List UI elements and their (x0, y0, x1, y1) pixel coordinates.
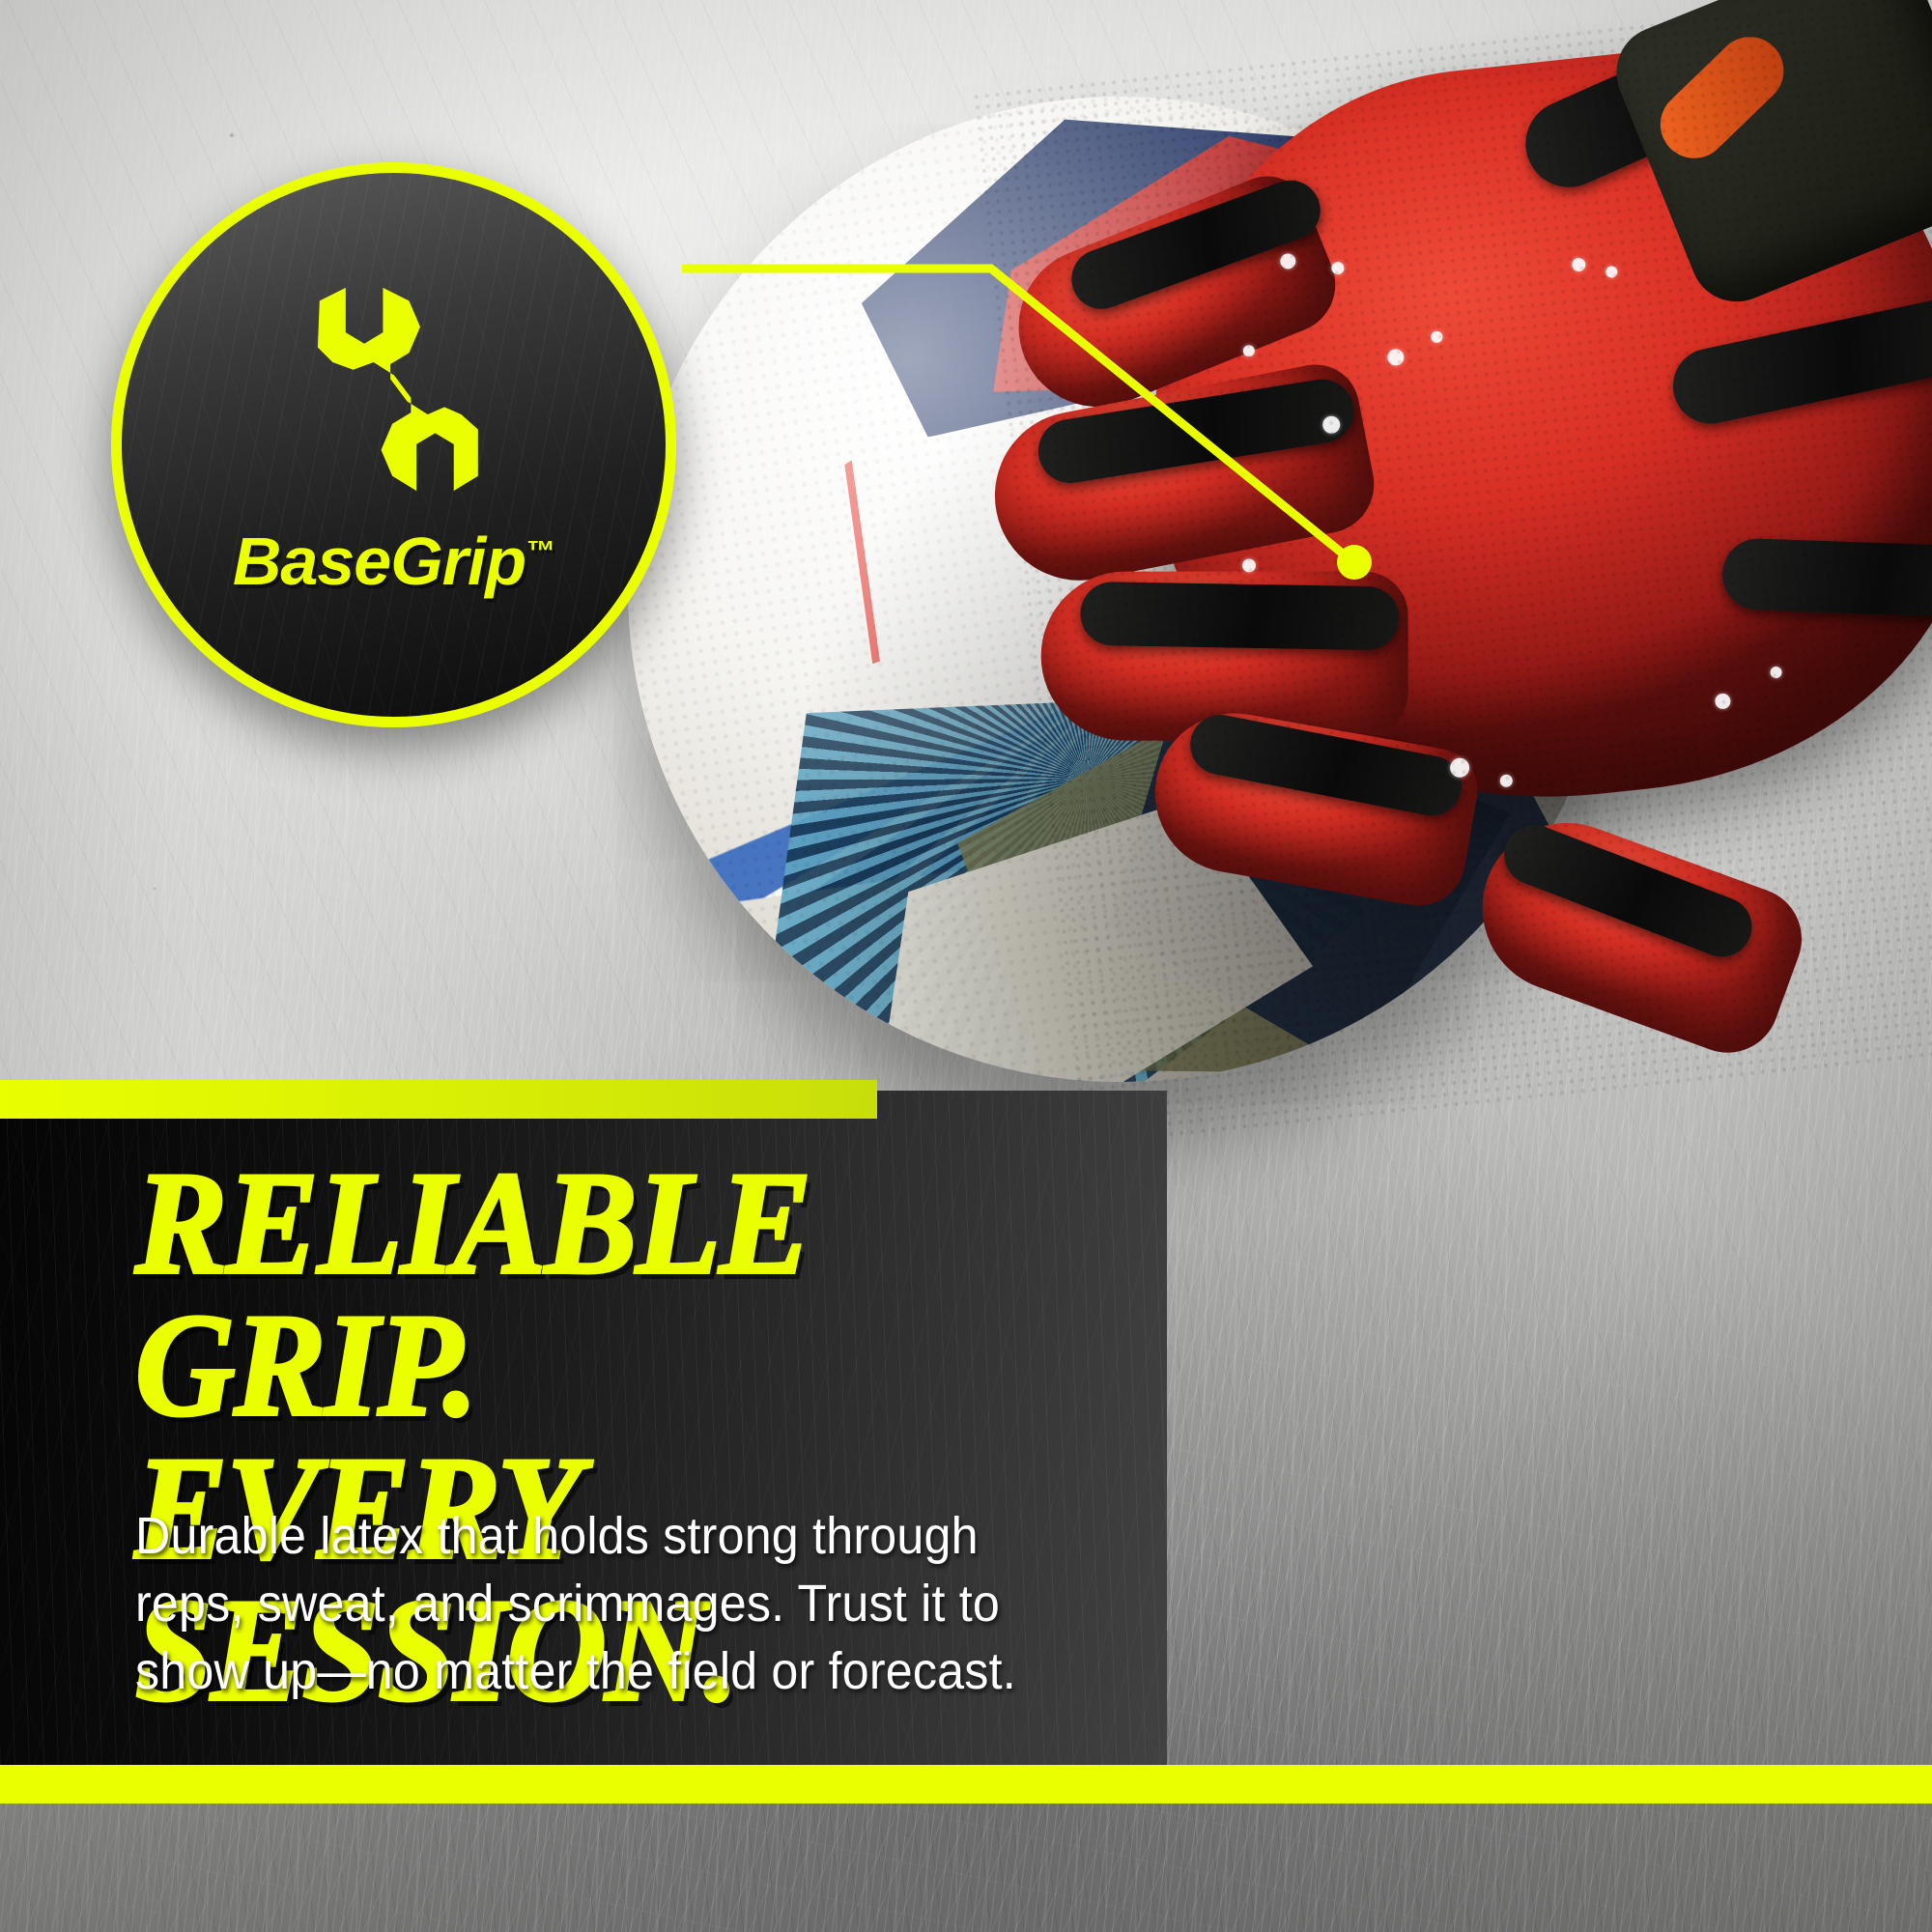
glove-cuff-accent (1646, 23, 1798, 173)
body-copy: Durable latex that holds strong through … (135, 1502, 1061, 1706)
hero-photo (744, 39, 1932, 1179)
basegrip-badge[interactable]: BaseGrip™ (111, 162, 676, 727)
crossed-wrenches-icon (282, 284, 506, 495)
badge-label: BaseGrip (233, 524, 526, 599)
glove-strip-8 (1721, 537, 1932, 618)
glove-strip-3 (1080, 582, 1400, 651)
badge-wordmark: BaseGrip™ (233, 527, 554, 595)
accent-divider-bar (0, 1080, 877, 1119)
product-feature-card: BaseGrip™ RELIABLE GRIP. EVERY SESSION. … (0, 0, 1932, 1932)
footer-accent-bar (0, 1765, 1932, 1804)
goalkeeper-glove (971, 0, 1932, 1150)
trademark-symbol: ™ (526, 535, 554, 567)
